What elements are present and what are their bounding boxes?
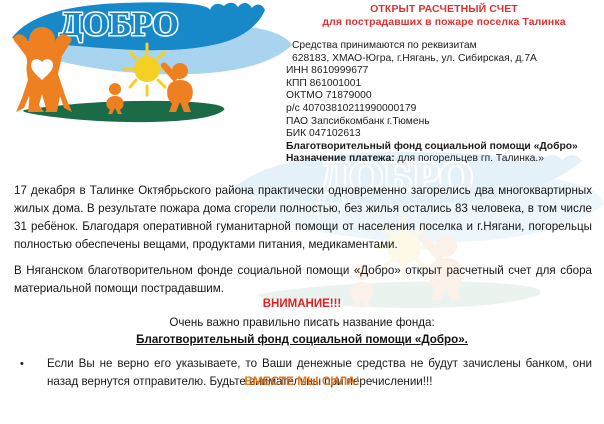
- requisites-inn: ИНН 8610999677: [286, 65, 602, 78]
- requisites-intro: Средства принимаются по реквизитам: [286, 40, 602, 53]
- logo-wordmark: ДОБРО: [59, 6, 178, 43]
- adult-figure-body: [27, 50, 58, 112]
- requisites-address: 628183, ХМАО-Югра, г.Нягань, ул. Сибирск…: [286, 53, 602, 66]
- body-paragraph-1: 17 декабря в Талинке Октябрьского района…: [14, 182, 592, 254]
- slogan: ВМЕСТЕ МЫ СИЛА!: [0, 374, 604, 388]
- fund-name-instruction: Очень важно правильно писать название фо…: [0, 316, 604, 329]
- requisites-purpose-value: для погорельцев гп. Талинка.»: [398, 153, 544, 164]
- requisites-purpose-label: Назначение платежа:: [286, 153, 395, 164]
- requisites-purpose: Назначение платежа: для погорельцев гп. …: [286, 153, 602, 166]
- page-title-line2: для пострадавших в пожаре поселка Талинк…: [286, 16, 602, 29]
- page-title: ОТКРЫТ РАСЧЕТНЫЙ СЧЕТ для пострадавших в…: [286, 3, 602, 29]
- dobro-logo-graphic: ДОБРО ДОБРО: [2, 0, 294, 150]
- requisites-kpp: КПП 861001001: [286, 78, 602, 91]
- requisites-oktmo: ОКТМО 71879000: [286, 90, 602, 103]
- requisites-fund-name: Благотворительный фонд социальной помощи…: [286, 141, 602, 154]
- flyer-page: ДОБРО ДОБРО: [0, 0, 604, 424]
- dobro-logo: ДОБРО ДОБРО: [2, 0, 294, 150]
- page-title-line1: ОТКРЫТ РАСЧЕТНЫЙ СЧЕТ: [286, 3, 602, 16]
- attention-heading: ВНИМАНИЕ!!!: [0, 298, 604, 310]
- bank-requisites: Средства принимаются по реквизитам 62818…: [286, 40, 602, 166]
- body-paragraph-2: В Няганском благотворительном фонде соци…: [14, 262, 592, 298]
- requisites-bank: ПАО Запсибкомбанк г.Тюмень: [286, 116, 602, 129]
- requisites-account: р/с 40703810211990000179: [286, 103, 602, 116]
- requisites-bik: БИК 047102613: [286, 128, 602, 141]
- fund-name-highlight: Благотворительный фонд социальной помощи…: [0, 333, 604, 346]
- bullet-icon: •: [20, 355, 24, 373]
